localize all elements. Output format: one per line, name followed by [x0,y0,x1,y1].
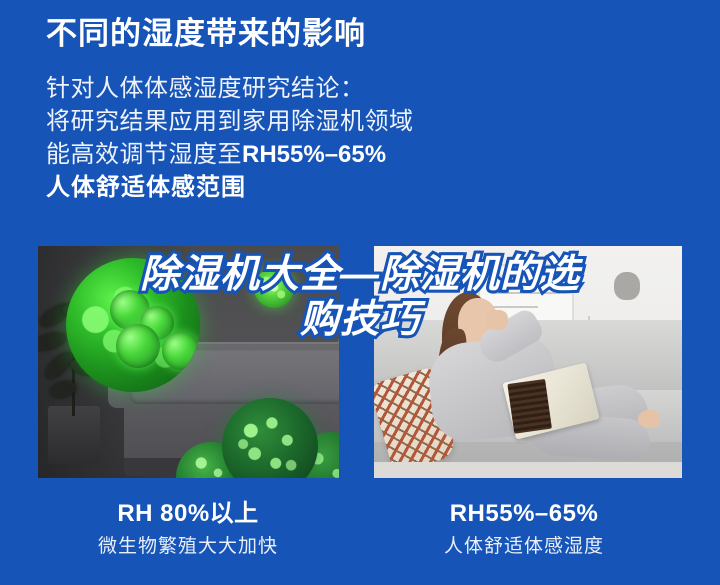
floor [374,462,682,478]
body-line-3-range: RH55%–65% [242,141,386,168]
photo-row: 温馨家居 [0,246,720,478]
bacteria-ball [116,324,160,368]
captions-row: RH 80%以上 微生物繁殖大大加快 RH55%–65% 人体舒适体感湿度 [0,498,720,578]
photo-right-comfort-room: 温馨家居 [374,246,682,478]
body-copy: 针对人体体感湿度研究结论： 将研究结果应用到家用除湿机领域 能高效调节湿度至RH… [46,72,686,204]
bacteria-virus-icon [222,398,318,478]
plant-leaf [38,331,67,353]
wall-art-line [492,292,560,294]
woman-reading [412,298,652,478]
body-line-2: 将研究结果应用到家用除湿机领域 [46,105,686,138]
caption-right: RH55%–65% 人体舒适体感湿度 [374,498,674,560]
caption-left-title: RH 80%以上 [38,498,338,530]
photo-left-humid-room [38,246,339,478]
body-line-3-regular: 能高效调节湿度至 [46,141,242,168]
bacteria-cluster-large-icon [66,258,200,392]
wall-speaker-icon [614,272,640,300]
caption-left-subtitle: 微生物繁殖大大加快 [38,534,338,560]
body-line-1: 针对人体体感湿度研究结论： [46,72,686,105]
wall-art-caption: 温馨家居 [496,274,516,281]
woman-hand [486,310,508,330]
caption-left: RH 80%以上 微生物繁殖大大加快 [38,498,338,560]
header-block: 不同的湿度带来的影响 针对人体体感湿度研究结论： 将研究结果应用到家用除湿机领域… [46,14,686,204]
woman-foot [638,410,660,428]
caption-right-subtitle: 人体舒适体感湿度 [374,534,674,560]
bacteria-small-icon [254,268,294,308]
body-line-3: 能高效调节湿度至RH55%–65% [46,138,686,171]
body-line-4: 人体舒适体感范围 [46,171,686,204]
page-title: 不同的湿度带来的影响 [46,14,686,54]
caption-right-title: RH55%–65% [374,498,674,530]
poster-root: 不同的湿度带来的影响 针对人体体感湿度研究结论： 将研究结果应用到家用除湿机领域… [0,0,720,585]
